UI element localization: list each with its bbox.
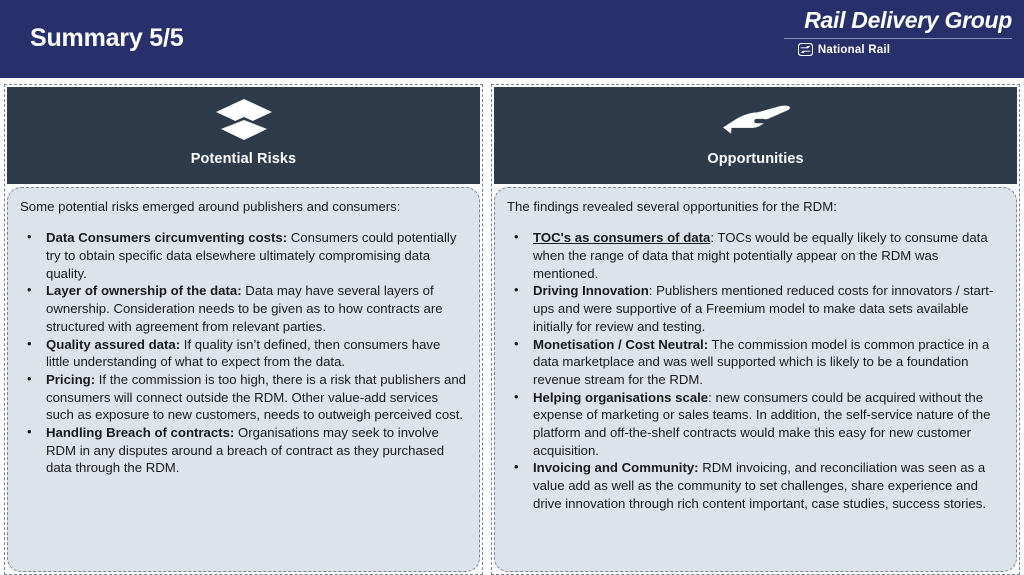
brand-lockup: Rail Delivery Group National Rail	[712, 8, 1012, 56]
national-rail-lockup: National Rail	[712, 43, 1012, 56]
bullet-lead: Data Consumers circumventing costs:	[46, 230, 287, 245]
open-hand-icon	[719, 97, 793, 143]
list-item: Quality assured data: If quality isn’t d…	[18, 336, 467, 371]
list-item: Driving Innovation: Publishers mentioned…	[505, 282, 1004, 335]
panel-body-opportunities: The findings revealed several opportunit…	[494, 187, 1017, 572]
bullet-lead: Quality assured data:	[46, 337, 180, 352]
bullet-lead: Handling Breach of contracts:	[46, 425, 234, 440]
list-item: TOC's as consumers of data: TOCs would b…	[505, 229, 1004, 282]
bullet-text: If the commission is too high, there is …	[46, 372, 466, 422]
bullet-list-potential-risks: Data Consumers circumventing costs: Cons…	[18, 229, 467, 477]
brand-divider	[784, 38, 1012, 39]
list-item: Monetisation / Cost Neutral: The commiss…	[505, 336, 1004, 389]
bullet-lead: Monetisation / Cost Neutral:	[533, 337, 708, 352]
panel-opportunities: Opportunities The findings revealed seve…	[491, 84, 1020, 575]
bullet-lead: Driving Innovation	[533, 283, 649, 298]
intro-text-potential-risks: Some potential risks emerged around publ…	[20, 198, 467, 215]
panel-potential-risks: Potential Risks Some potential risks eme…	[4, 84, 483, 575]
panels-container: Potential Risks Some potential risks eme…	[0, 78, 1024, 575]
list-item: Layer of ownership of the data: Data may…	[18, 282, 467, 335]
list-item: Helping organisations scale: new consume…	[505, 389, 1004, 460]
list-item: Invoicing and Community: RDM invoicing, …	[505, 459, 1004, 512]
panel-header-potential-risks: Potential Risks	[7, 87, 480, 184]
panel-header-opportunities: Opportunities	[494, 87, 1017, 184]
national-rail-double-arrow-icon	[798, 43, 813, 56]
bullet-lead: TOC's as consumers of data	[533, 230, 710, 245]
page-title: Summary 5/5	[30, 24, 183, 53]
intro-text-opportunities: The findings revealed several opportunit…	[507, 198, 1004, 215]
list-item: Data Consumers circumventing costs: Cons…	[18, 229, 467, 282]
layers-icon	[215, 97, 273, 143]
brand-sub-name: National Rail	[818, 44, 890, 56]
bullet-list-opportunities: TOC's as consumers of data: TOCs would b…	[505, 229, 1004, 512]
bullet-lead: Layer of ownership of the data:	[46, 283, 242, 298]
brand-name: Rail Delivery Group	[712, 8, 1012, 33]
panel-body-potential-risks: Some potential risks emerged around publ…	[7, 187, 480, 572]
list-item: Handling Breach of contracts: Organisati…	[18, 424, 467, 477]
bullet-lead: Helping organisations scale	[533, 390, 708, 405]
list-item: Pricing: If the commission is too high, …	[18, 371, 467, 424]
bullet-lead: Pricing:	[46, 372, 95, 387]
slide-header-banner: Summary 5/5 Rail Delivery Group National…	[0, 0, 1024, 78]
panel-title-opportunities: Opportunities	[707, 151, 803, 167]
panel-title-potential-risks: Potential Risks	[191, 151, 296, 167]
bullet-lead: Invoicing and Community:	[533, 460, 699, 475]
